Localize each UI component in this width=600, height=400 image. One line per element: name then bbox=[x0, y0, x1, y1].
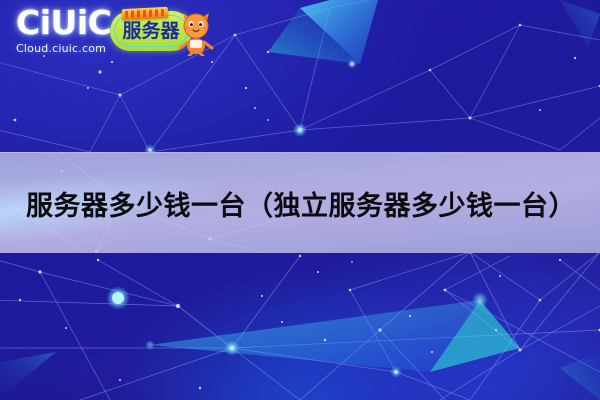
promo-banner: CiUiC Cloud.ciuic.com 服务器 bbox=[0, 0, 600, 400]
title-band: 服务器多少钱一台（独立服务器多少钱一台） bbox=[0, 152, 600, 253]
orange-cat-mascot-icon bbox=[176, 8, 216, 56]
banner-title: 服务器多少钱一台（独立服务器多少钱一台） bbox=[0, 153, 600, 253]
ribbon-icon bbox=[122, 7, 169, 20]
